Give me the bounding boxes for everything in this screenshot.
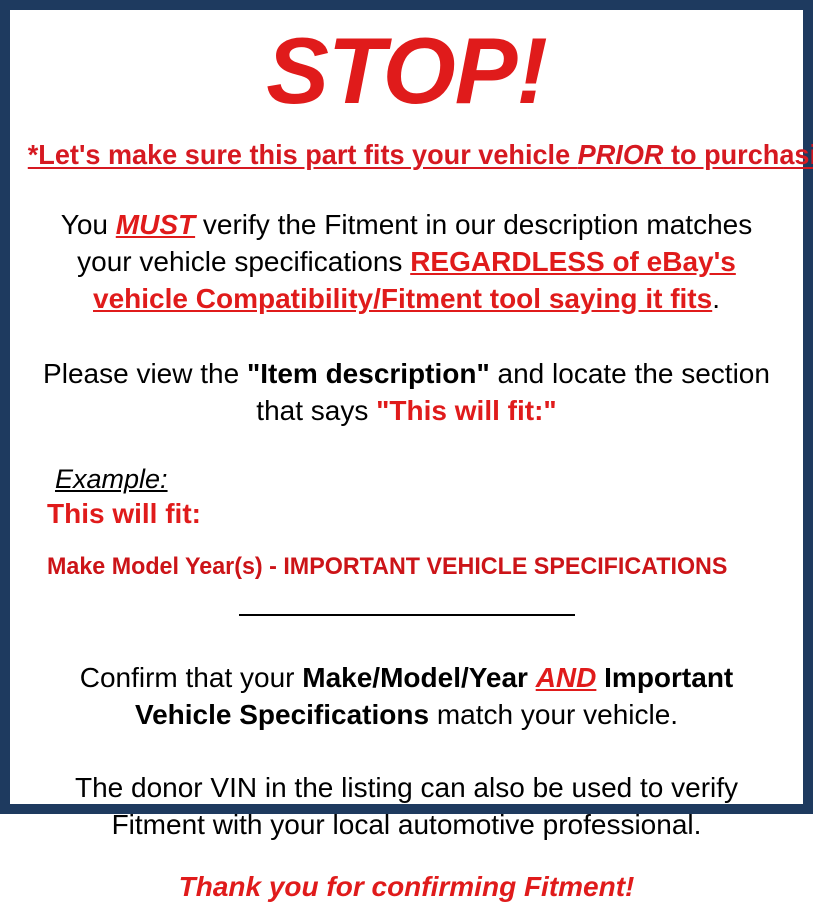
example-fit-heading: This will fit: <box>47 498 795 530</box>
item-description-emphasis: "Item description" <box>247 358 490 389</box>
must-part-3: . <box>712 283 720 314</box>
tagline-emphasis-prior: PRIOR <box>578 139 664 170</box>
paragraph-must-verify: You MUST verify the Fitment in our descr… <box>18 207 795 318</box>
page-title: STOP! <box>18 24 795 118</box>
confirm-space-1 <box>528 662 536 693</box>
fitment-notice-card: STOP! *Let's make sure this part fits yo… <box>0 0 813 814</box>
tagline-suffix: to purchasing* <box>663 139 813 170</box>
confirm-space-2 <box>596 662 604 693</box>
paragraph-item-description: Please view the "Item description" and l… <box>18 356 795 430</box>
paragraph-confirm: Confirm that your Make/Model/Year AND Im… <box>18 660 795 734</box>
view-part-1: Please view the <box>43 358 247 389</box>
this-will-fit-emphasis: "This will fit:" <box>376 395 557 426</box>
divider-wrapper <box>18 606 795 624</box>
paragraph-donor-vin: The donor VIN in the listing can also be… <box>18 770 795 844</box>
tagline-banner: *Let's make sure this part fits your veh… <box>24 140 789 170</box>
confirm-part-1: Confirm that your <box>80 662 303 693</box>
thank-you-message: Thank you for confirming Fitment! <box>18 870 795 904</box>
and-emphasis: AND <box>536 662 597 693</box>
confirm-part-2: match your vehicle. <box>429 699 678 730</box>
must-emphasis: MUST <box>116 209 195 240</box>
example-label: Example: <box>55 464 795 496</box>
example-block: Example: This will fit: Make Model Year(… <box>18 464 795 580</box>
example-spec-line: Make Model Year(s) - IMPORTANT VEHICLE S… <box>47 554 773 580</box>
horizontal-rule <box>239 614 575 616</box>
tagline-prefix: *Let's make sure this part fits your veh… <box>28 139 578 170</box>
make-model-year-emphasis: Make/Model/Year <box>302 662 528 693</box>
must-part-1: You <box>61 209 116 240</box>
